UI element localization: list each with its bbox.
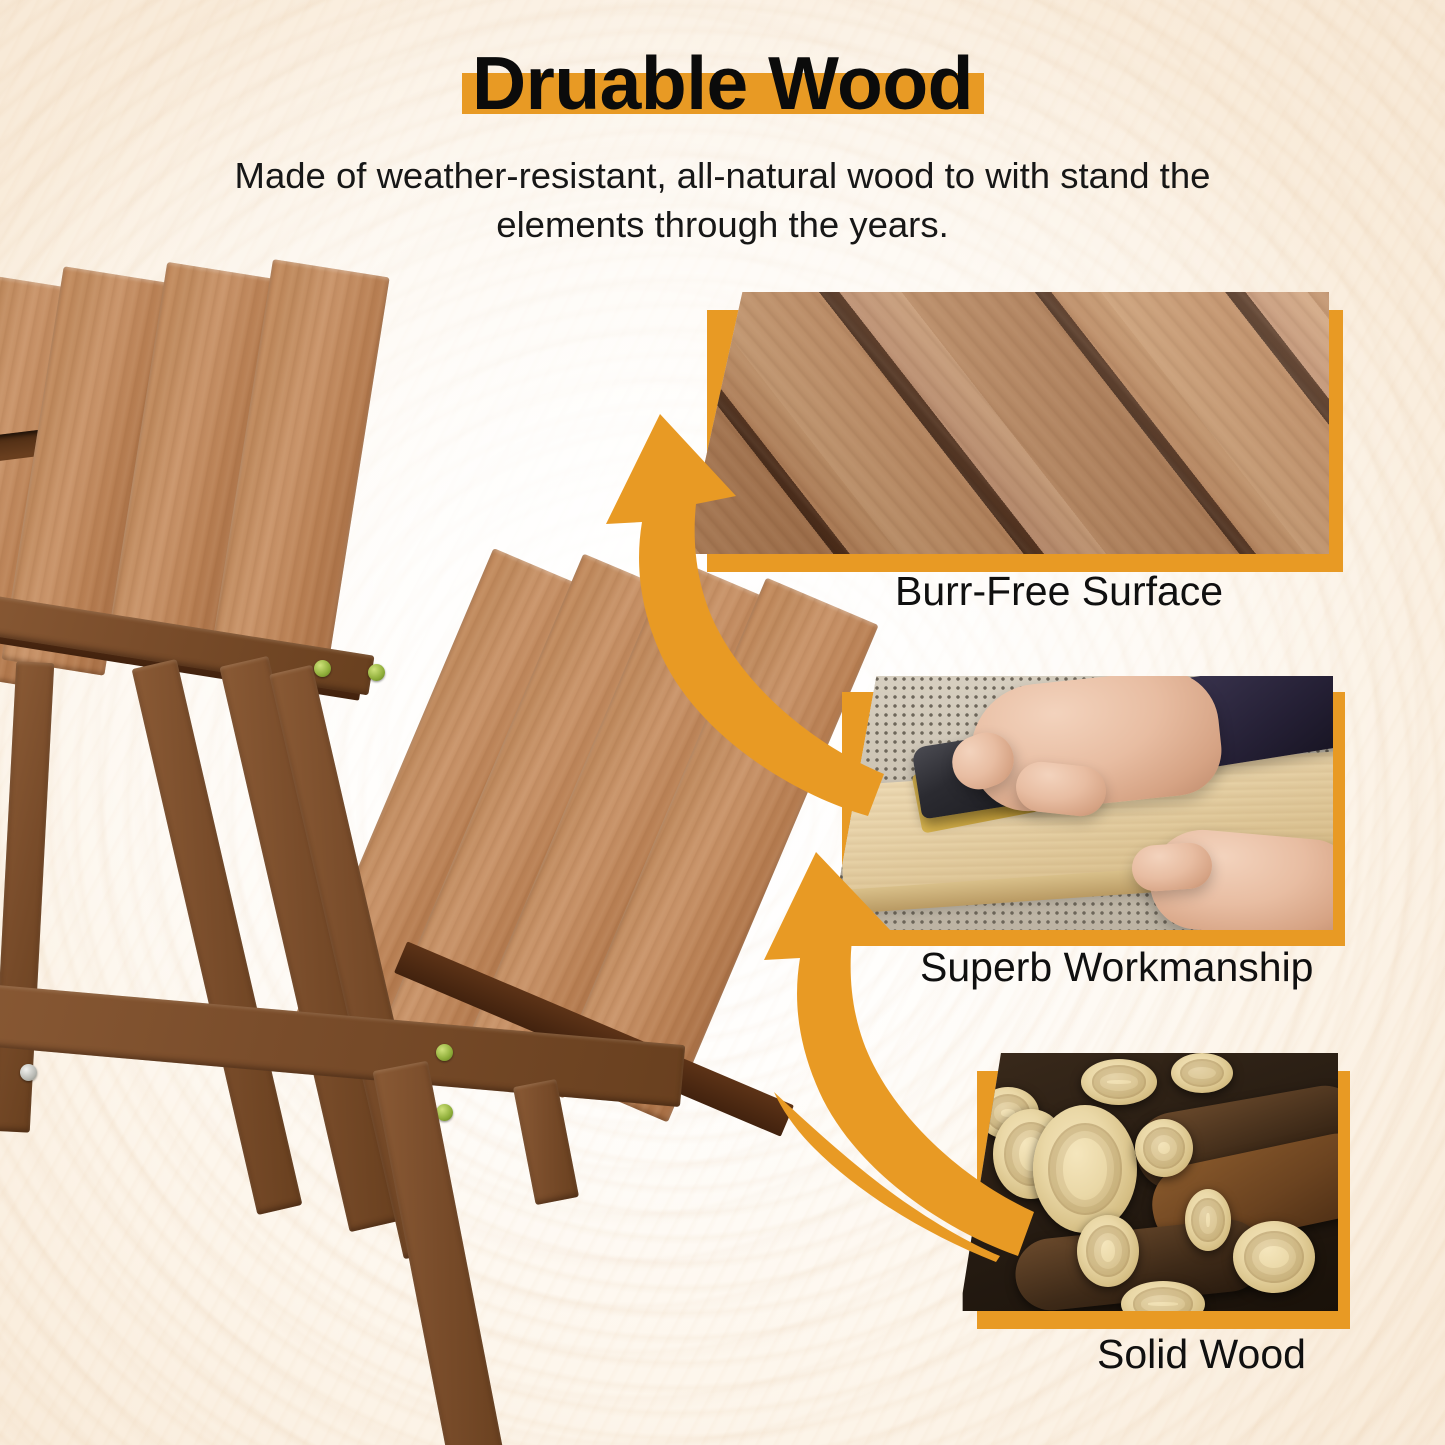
log-end (1135, 1119, 1193, 1177)
feature-caption-3: Solid Wood (1097, 1331, 1306, 1378)
page-subtitle: Made of weather-resistant, all-natural w… (183, 152, 1263, 250)
page-title: Druable Wood (0, 44, 1445, 124)
log-end (1233, 1221, 1315, 1293)
finger-lower (1130, 841, 1213, 892)
log-end (1185, 1189, 1231, 1251)
title-text: Druable Wood (458, 44, 987, 124)
arrow-to-solid-wood (770, 1056, 1000, 1266)
feature-caption-1: Burr-Free Surface (895, 568, 1223, 615)
arrow-to-burr-free-surface (596, 400, 896, 820)
log-end (1171, 1053, 1233, 1093)
log-end (1033, 1105, 1137, 1233)
log-end (1077, 1215, 1139, 1287)
infographic-canvas: Druable Wood Made of weather-resistant, … (0, 0, 1445, 1445)
log-end (1081, 1059, 1157, 1105)
